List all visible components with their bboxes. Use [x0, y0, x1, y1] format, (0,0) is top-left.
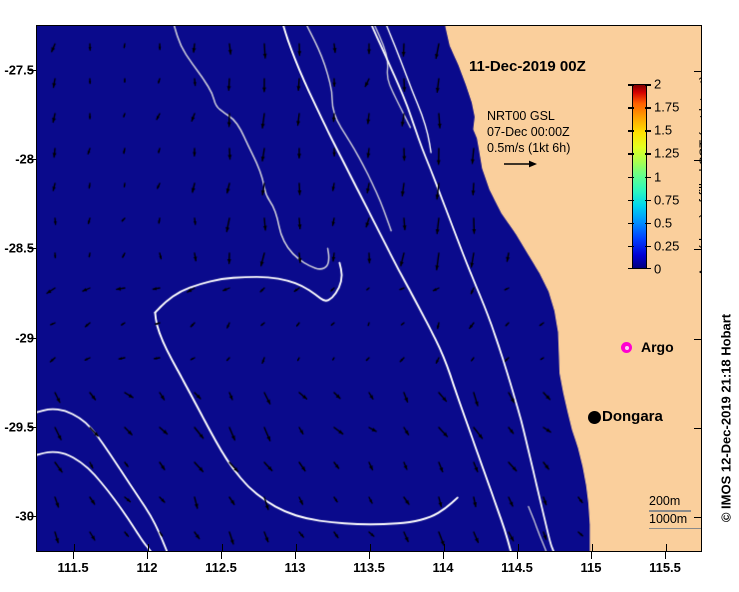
x-tick-mark	[296, 544, 297, 551]
colorbar-tick-mark	[645, 268, 651, 270]
x-tick-mark	[518, 544, 519, 551]
colorbar-tick-mark	[645, 246, 651, 248]
argo-label: Argo	[641, 339, 674, 355]
x-tick-mark-outer	[443, 552, 444, 559]
x-tick-mark-outer	[591, 552, 592, 559]
y-tick-mark	[694, 71, 701, 72]
colorbar-tick-mark	[628, 223, 634, 225]
x-tick-mark	[74, 544, 75, 551]
x-tick-label: 112.5	[205, 560, 237, 575]
y-tick-mark	[694, 428, 701, 429]
x-tick-mark-outer	[221, 552, 222, 559]
depth-1000-row: 1000m	[649, 512, 702, 530]
colorbar-tick-mark	[628, 200, 634, 202]
colorbar-tick-mark	[645, 200, 651, 202]
colorbar-tick-mark	[645, 223, 651, 225]
colorbar-tick-mark	[645, 153, 651, 155]
x-tick-mark	[444, 544, 445, 551]
colorbar-tick-label: 1.25	[654, 146, 679, 161]
y-tick-mark-outer	[29, 248, 36, 249]
colorbar-tick-label: 1	[654, 169, 661, 184]
oceanographic-map-figure: 11-Dec-2019 00Z NRT00 GSL 07-Dec 00:00Z …	[0, 0, 739, 592]
current-vector-annotation: NRT00 GSL 07-Dec 00:00Z 0.5m/s (1kt 6h)	[487, 108, 570, 156]
x-tick-label: 114	[433, 560, 454, 575]
colorbar-tick-mark	[628, 177, 634, 179]
y-tick-mark-outer	[29, 159, 36, 160]
map-title-date: 11-Dec-2019 00Z	[469, 58, 586, 75]
annotation-time-line: 07-Dec 00:00Z	[487, 124, 570, 140]
y-tick-mark	[694, 517, 701, 518]
colorbar-tick-mark	[628, 268, 634, 270]
annotation-product-line: NRT00 GSL	[487, 108, 570, 124]
x-tick-label: 113.5	[353, 560, 385, 575]
map-canvas	[37, 26, 701, 551]
colorbar-tick-mark	[628, 84, 634, 86]
y-tick-mark-outer	[29, 516, 36, 517]
map-plot-area[interactable]: 11-Dec-2019 00Z NRT00 GSL 07-Dec 00:00Z …	[36, 25, 702, 552]
reference-vector-arrow-icon	[503, 159, 537, 169]
x-tick-mark-outer	[295, 552, 296, 559]
colorbar-tick-mark	[628, 153, 634, 155]
y-tick-mark	[694, 160, 701, 161]
colorbar-title: Age (days) of filled SST (wrt latest)	[697, 76, 703, 277]
colorbar-tick-label: 1.75	[654, 100, 679, 115]
x-tick-mark	[148, 544, 149, 551]
depth-200-row: 200m	[649, 494, 702, 512]
annotation-scale-line: 0.5m/s (1kt 6h)	[487, 140, 570, 156]
x-tick-mark-outer	[369, 552, 370, 559]
x-tick-mark	[666, 544, 667, 551]
y-tick-mark	[694, 249, 701, 250]
x-tick-label: 115.5	[649, 560, 681, 575]
colorbar-tick-mark	[628, 246, 634, 248]
x-tick-mark-outer	[73, 552, 74, 559]
colorbar-tick-mark	[645, 177, 651, 179]
colorbar-tick-mark	[645, 107, 651, 109]
y-tick-mark	[694, 339, 701, 340]
y-tick-mark-outer	[29, 70, 36, 71]
x-tick-label: 112	[137, 560, 158, 575]
copyright-notice: © IMOS 12-Dec-2019 21:18 Hobart	[719, 314, 734, 522]
depth-1000-line-swatch	[649, 528, 702, 530]
colorbar-tick-mark	[628, 130, 634, 132]
dongara-city-marker[interactable]	[588, 411, 601, 424]
colorbar-tick-label: 0.5	[654, 215, 672, 230]
colorbar-tick-label: 0	[654, 262, 661, 277]
x-tick-label: 113	[285, 560, 306, 575]
dongara-label: Dongara	[602, 408, 663, 425]
x-tick-mark	[222, 544, 223, 551]
colorbar-tick-mark	[645, 130, 651, 132]
x-tick-mark	[592, 544, 593, 551]
colorbar-tick-mark	[645, 84, 651, 86]
x-tick-label: 111.5	[57, 560, 88, 575]
argo-float-marker[interactable]	[621, 342, 632, 353]
colorbar-tick-mark	[628, 107, 634, 109]
depth-1000-label: 1000m	[649, 512, 687, 526]
colorbar-tick-label: 0.75	[654, 192, 679, 207]
depth-200-label: 200m	[649, 494, 680, 508]
colorbar-tick-label: 1.5	[654, 123, 672, 138]
colorbar-tick-label: 0.25	[654, 238, 679, 253]
x-tick-label: 115	[581, 560, 602, 575]
x-tick-label: 114.5	[501, 560, 533, 575]
colorbar-tick-label: 2	[654, 77, 661, 92]
x-tick-mark-outer	[147, 552, 148, 559]
x-tick-mark-outer	[517, 552, 518, 559]
x-tick-mark	[370, 544, 371, 551]
bathymetry-depth-legend: 200m 1000m	[649, 494, 702, 529]
y-tick-mark-outer	[29, 338, 36, 339]
x-tick-mark-outer	[665, 552, 666, 559]
y-tick-mark-outer	[29, 427, 36, 428]
